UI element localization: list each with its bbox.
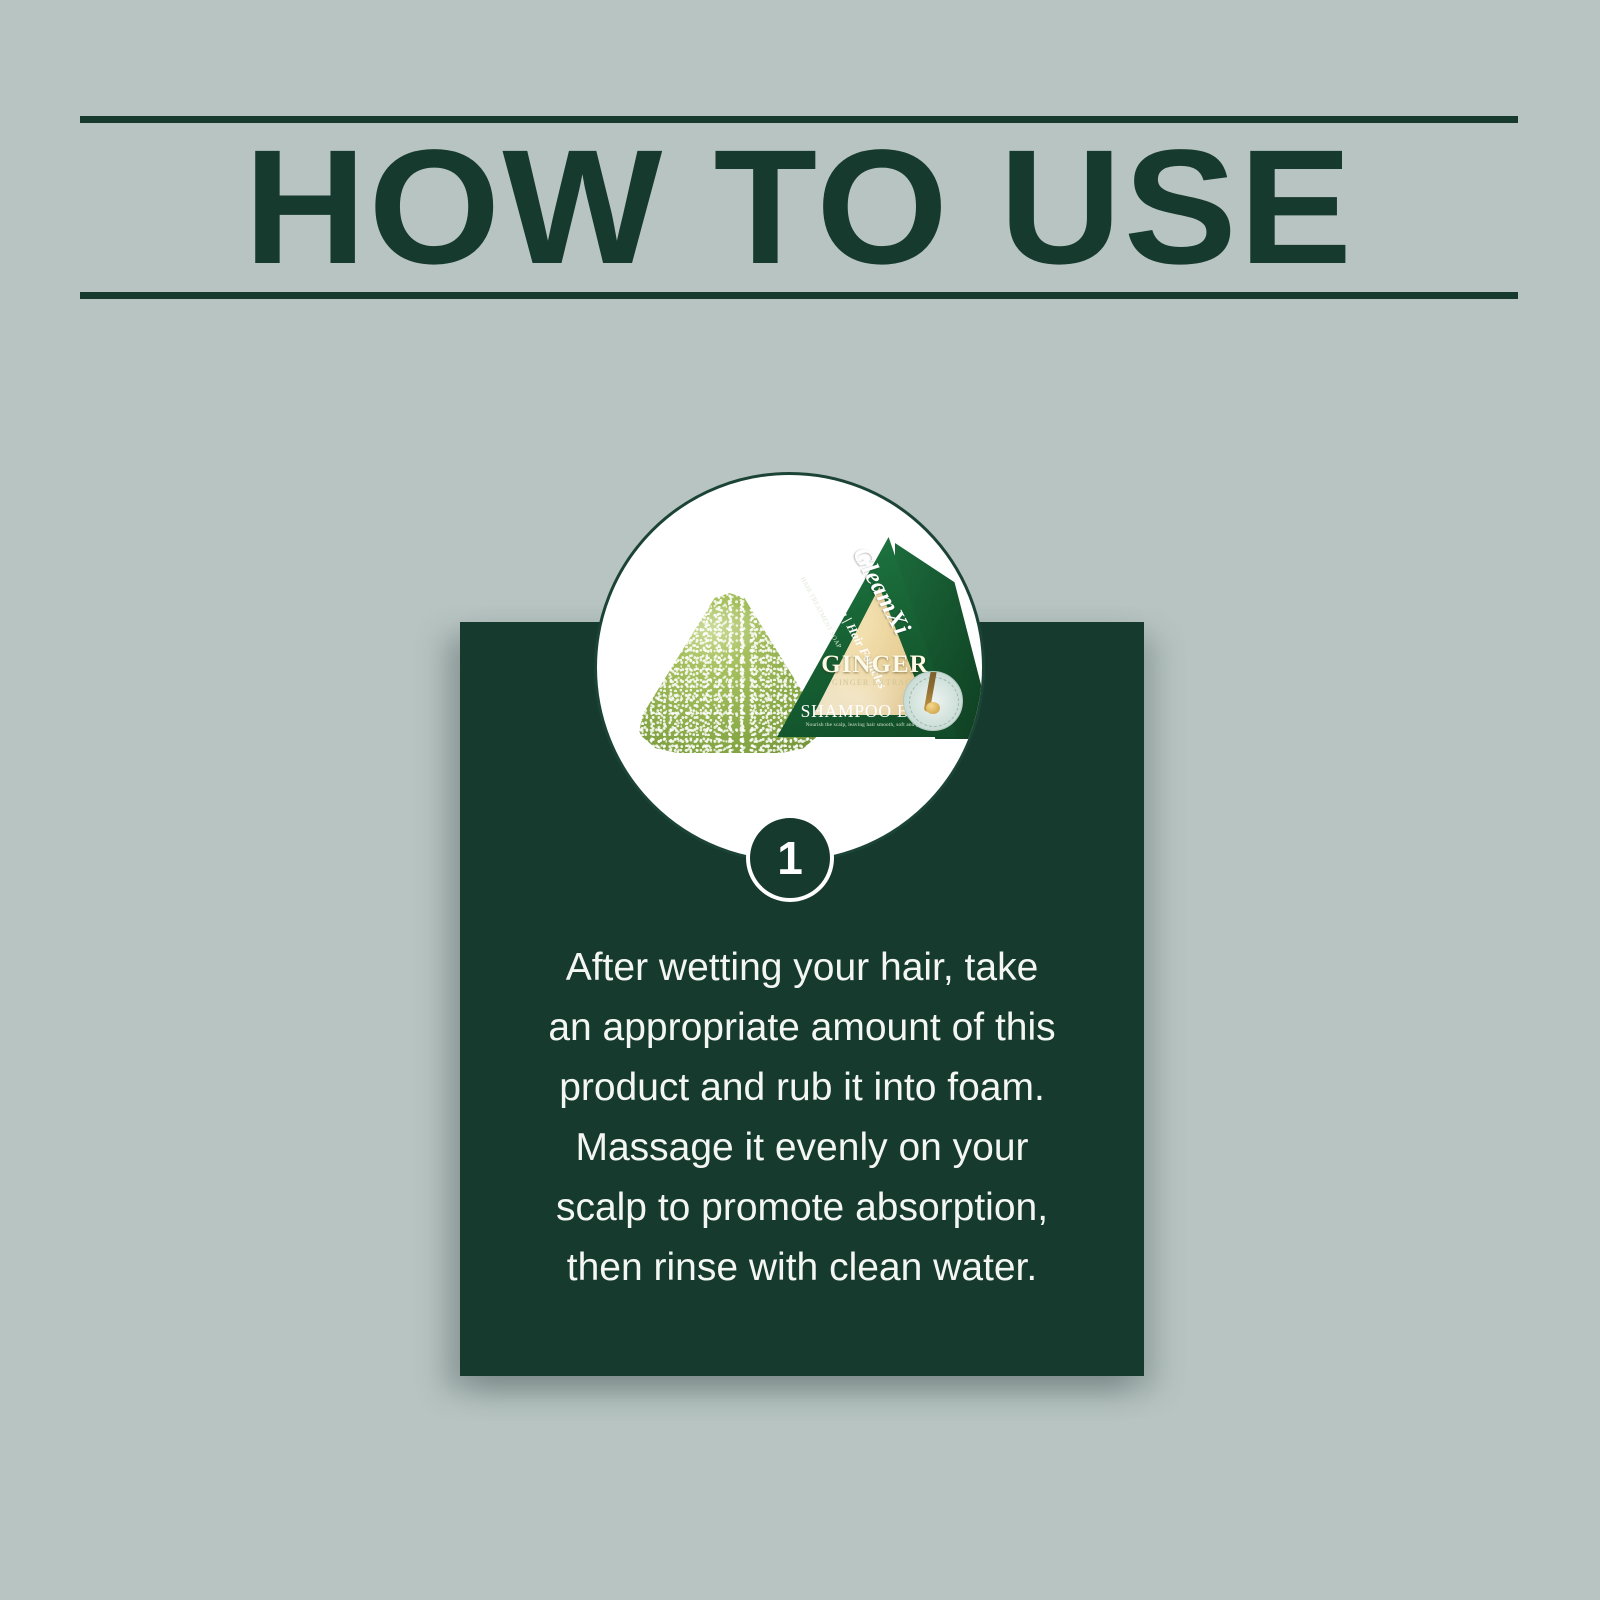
product-image-circle: GleamXi Revitalizing | Hair Follicles HA… <box>594 472 985 863</box>
step-number-badge: 1 <box>746 814 834 902</box>
page-title: HOW TO USE <box>51 118 1547 294</box>
header-rule-bottom <box>80 292 1518 299</box>
step-text-line: product and rub it into foam. <box>486 1058 1118 1118</box>
seal-droplet-icon <box>926 702 940 714</box>
page-header: HOW TO USE <box>0 0 1600 380</box>
product-scene: GleamXi Revitalizing | Hair Follicles HA… <box>597 475 985 863</box>
step-instruction-text: After wetting your hair, take an appropr… <box>486 938 1118 1298</box>
step-text-line: After wetting your hair, take <box>486 938 1118 998</box>
step-text-line: an appropriate amount of this <box>486 998 1118 1058</box>
shampoo-bar-highlight <box>670 606 774 660</box>
box-seal-emblem <box>903 671 963 731</box>
step-text-line: Massage it evenly on your <box>486 1118 1118 1178</box>
product-box: GleamXi Revitalizing | Hair Follicles HA… <box>775 531 985 746</box>
step-text-line: then rinse with clean water. <box>486 1238 1118 1298</box>
step-text-line: scalp to promote absorption, <box>486 1178 1118 1238</box>
